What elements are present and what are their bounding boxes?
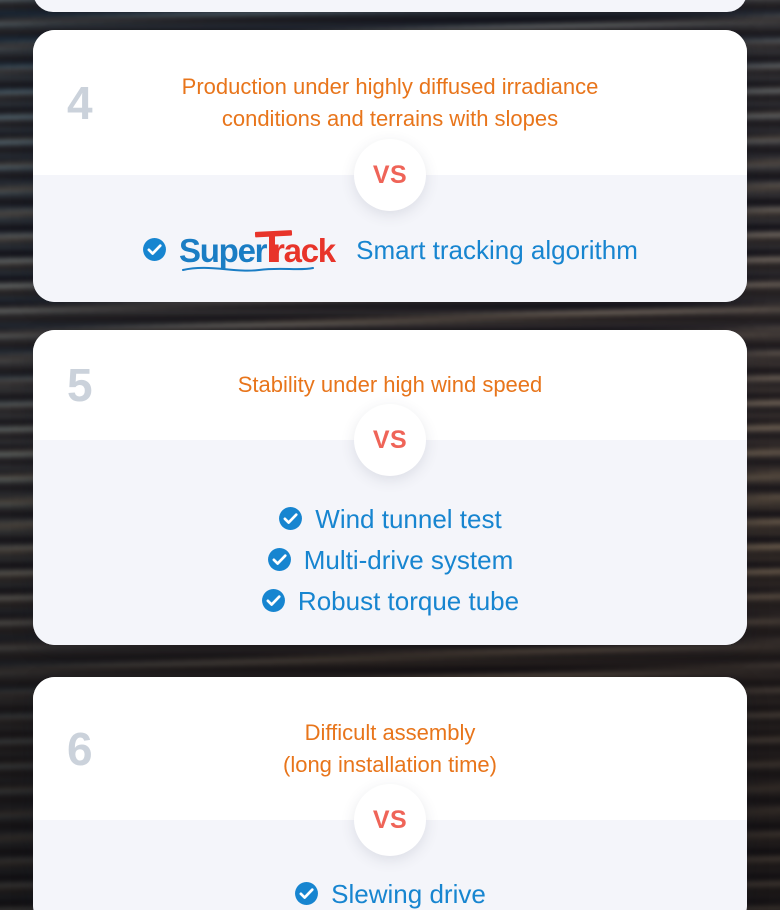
card-5-benefit-row-1[interactable]: Wind tunnel test — [278, 503, 501, 535]
card-6-benefit-list: Slewing drive — [294, 878, 486, 910]
card-5-vs-badge: VS — [354, 404, 426, 476]
card-6-problem-line-2: (long installation time) — [283, 749, 497, 781]
card-4-benefit-label-1: Smart tracking algorithm — [356, 234, 638, 266]
check-circle-icon — [261, 588, 286, 613]
comparison-card-5[interactable]: 5 Stability under high wind speed VS Win… — [33, 330, 747, 645]
card-6-problem-line-1: Difficult assembly — [283, 717, 497, 749]
comparison-card-list: 4 Production under highly diffused irrad… — [0, 0, 780, 910]
card-5-benefit-row-2[interactable]: Multi-drive system — [267, 544, 513, 576]
card-5-benefit-list: Wind tunnel test Multi-drive system Robu… — [261, 503, 519, 617]
check-circle-icon — [278, 506, 303, 531]
check-circle-icon — [267, 547, 292, 572]
comparison-card-4[interactable]: 4 Production under highly diffused irrad… — [33, 30, 747, 302]
card-6-vs-badge: VS — [354, 784, 426, 856]
card-6-vs-label: VS — [373, 806, 407, 835]
card-5-benefit-row-3[interactable]: Robust torque tube — [261, 585, 519, 617]
svg-text:Super: Super — [179, 232, 268, 269]
svg-text:rack: rack — [272, 232, 337, 269]
card-5-benefit-label-1: Wind tunnel test — [315, 503, 501, 535]
supertrack-logo: Super rack — [179, 227, 344, 273]
card-4-problem-text: Production under highly diffused irradia… — [62, 71, 719, 135]
card-6-index: 6 — [67, 726, 92, 772]
card-4-problem-line-2: conditions and terrains with slopes — [182, 103, 599, 135]
check-circle-icon — [294, 881, 319, 906]
card-5-vs-label: VS — [373, 426, 407, 455]
card-4-benefit-row-1[interactable]: Super rack Smart tracking algorithm — [142, 227, 638, 273]
card-4-index: 4 — [67, 80, 92, 126]
card-6-benefit-row-1[interactable]: Slewing drive — [294, 878, 486, 910]
card-4-vs-badge: VS — [354, 139, 426, 211]
card-5-benefit-label-3: Robust torque tube — [298, 585, 519, 617]
card-4-problem-line-1: Production under highly diffused irradia… — [182, 71, 599, 103]
card-5-problem-text: Stability under high wind speed — [118, 369, 663, 401]
card-6-benefit-label-1: Slewing drive — [331, 878, 486, 910]
check-circle-icon — [142, 237, 167, 262]
card-4-benefit-list: Super rack Smart tracking algorithm — [142, 227, 638, 273]
comparison-card-6[interactable]: 6 Difficult assembly (long installation … — [33, 677, 747, 910]
card-5-index: 5 — [67, 362, 92, 408]
card-partial-previous — [33, 0, 747, 12]
card-5-problem-line-1: Stability under high wind speed — [238, 369, 543, 401]
card-4-vs-label: VS — [373, 161, 407, 190]
card-6-problem-text: Difficult assembly (long installation ti… — [163, 717, 617, 781]
card-5-benefit-label-2: Multi-drive system — [304, 544, 513, 576]
